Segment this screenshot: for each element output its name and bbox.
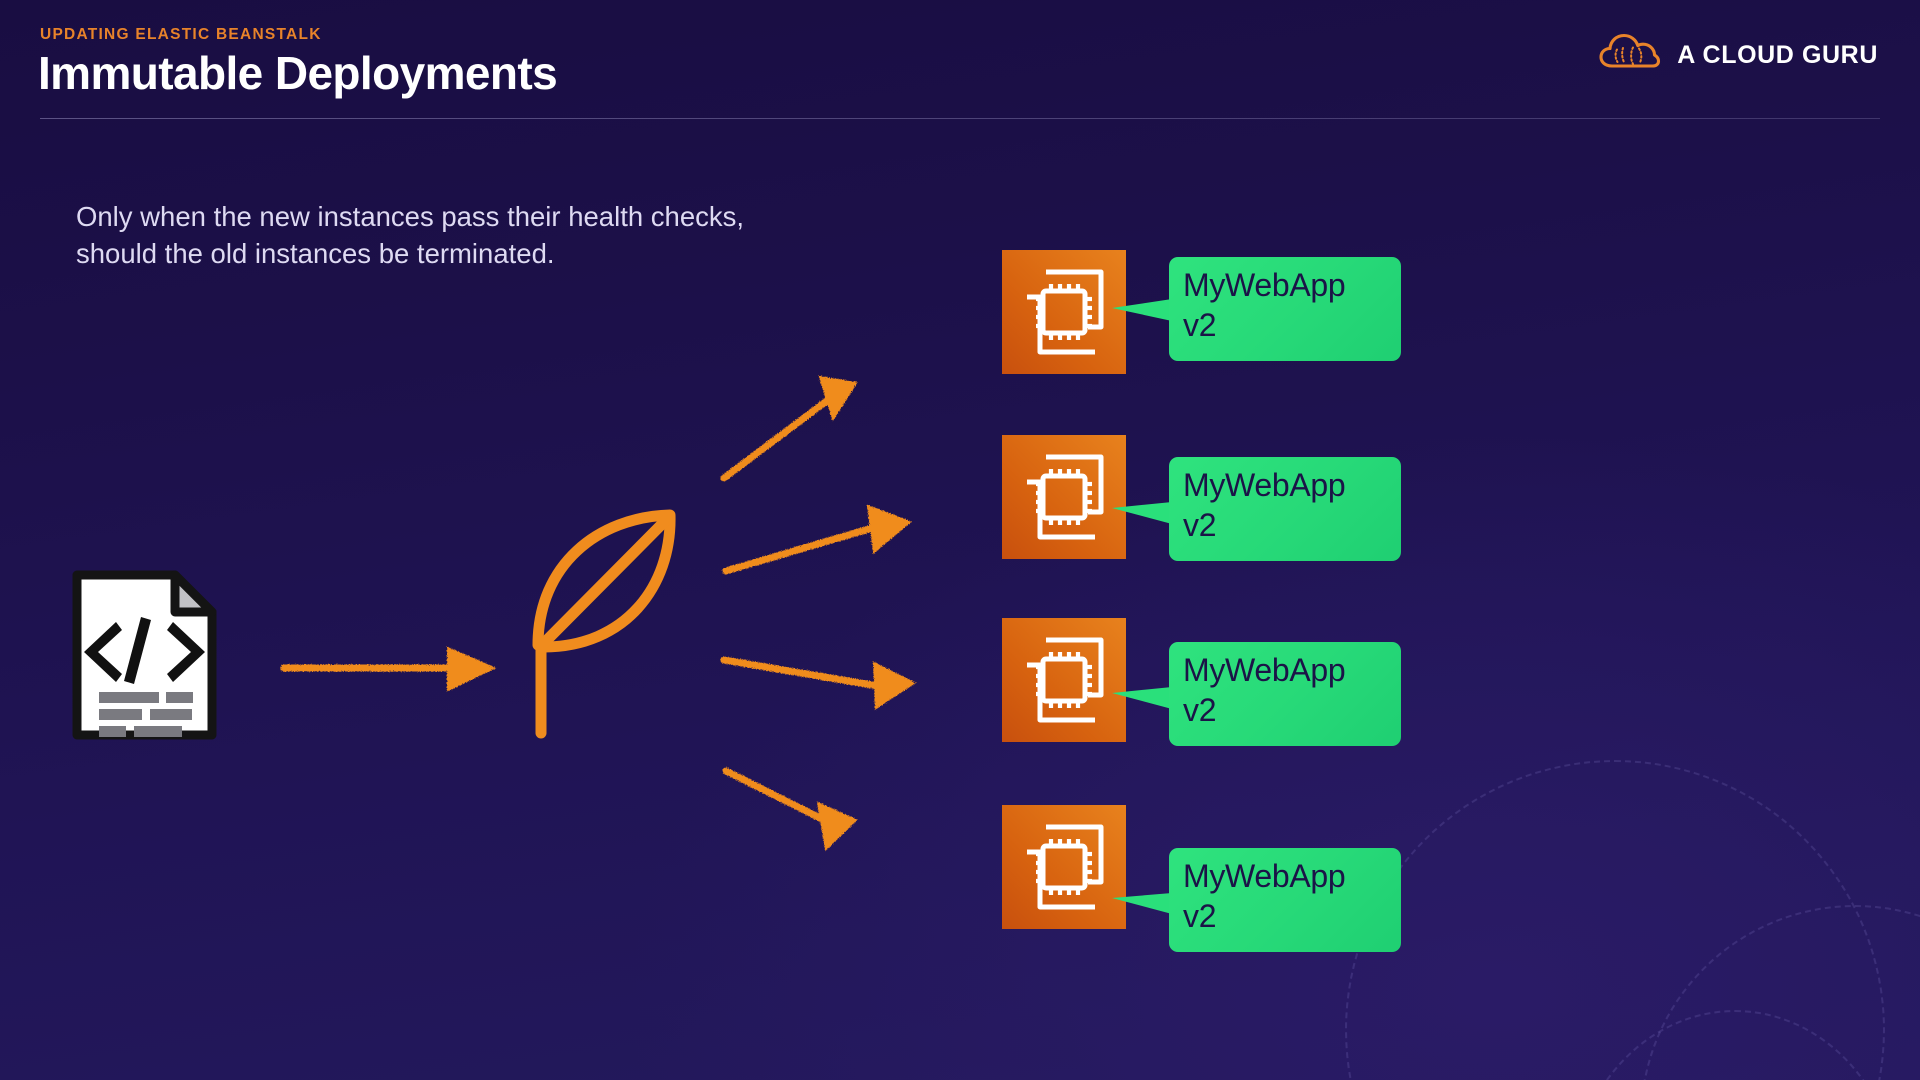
instance-label: MyWebApp v2: [1169, 848, 1401, 952]
cloud-icon: [1599, 33, 1661, 78]
callout-tail: [1112, 502, 1172, 524]
ec2-instance-icon: [1002, 250, 1126, 374]
instance-label: MyWebApp v2: [1169, 642, 1401, 746]
ec2-instance-icon: [1002, 805, 1126, 929]
instance-label: MyWebApp v2: [1169, 257, 1401, 361]
arrow-right-icon: [284, 648, 494, 690]
instance-label-text: MyWebApp v2: [1183, 265, 1387, 345]
instance-label-text: MyWebApp v2: [1183, 856, 1387, 936]
instance-label-text: MyWebApp v2: [1183, 650, 1387, 730]
arrow-up-right-icon: [724, 377, 856, 478]
arrow-right-icon: [724, 660, 914, 708]
slide: UPDATING ELASTIC BEANSTALK Immutable Dep…: [0, 0, 1920, 1080]
instance-label: MyWebApp v2: [1169, 457, 1401, 561]
elastic-beanstalk-leaf-icon: [528, 505, 688, 740]
ec2-instance-icon: [1002, 435, 1126, 559]
header-divider: [40, 118, 1880, 119]
arrow-right-icon: [726, 506, 910, 571]
callout-tail: [1112, 299, 1172, 321]
slide-header: UPDATING ELASTIC BEANSTALK Immutable Dep…: [0, 0, 1920, 122]
callout-tail: [1112, 687, 1172, 709]
brand-lockup: A CLOUD GURU: [1599, 33, 1878, 78]
body-paragraph: Only when the new instances pass their h…: [76, 198, 796, 272]
callout-tail: [1112, 893, 1172, 914]
page-title: Immutable Deployments: [38, 46, 557, 100]
brand-name: A CLOUD GURU: [1677, 41, 1878, 70]
instance-label-text: MyWebApp v2: [1183, 465, 1387, 545]
section-eyebrow: UPDATING ELASTIC BEANSTALK: [40, 26, 322, 44]
code-document-icon: [72, 570, 217, 740]
ec2-instance-icon: [1002, 618, 1126, 742]
arrow-down-right-icon: [726, 771, 856, 849]
